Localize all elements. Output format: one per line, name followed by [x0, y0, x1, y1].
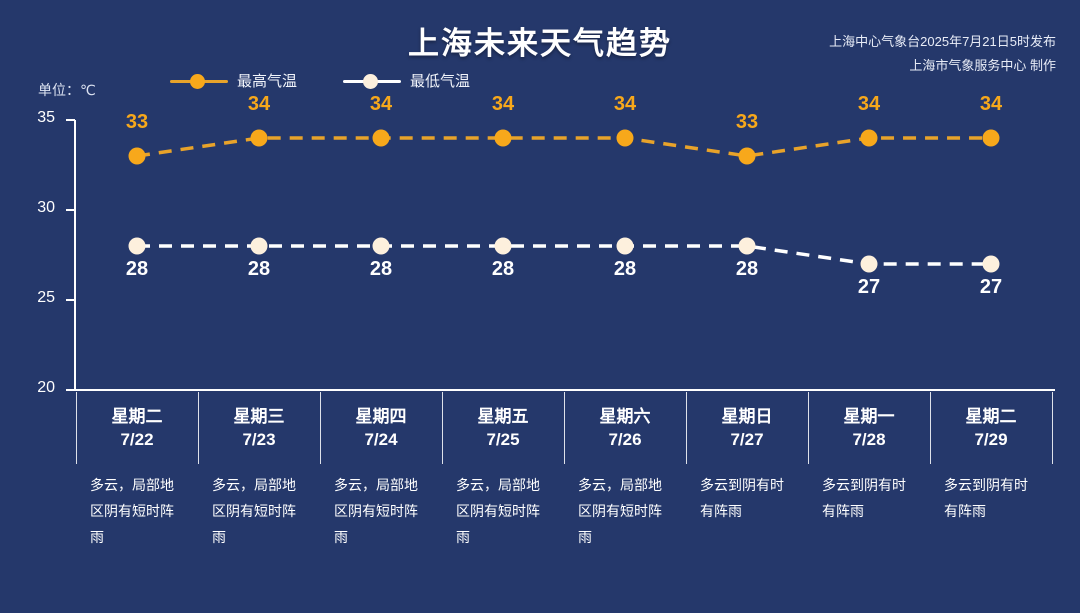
day-date: 7/24: [320, 430, 442, 450]
day-column[interactable]: 星期四7/24多云，局部地区阴有短时阵雨: [320, 388, 442, 588]
day-name: 星期六: [564, 402, 686, 427]
high-temp-marker[interactable]: [983, 130, 1000, 147]
day-date: 7/25: [442, 430, 564, 450]
attribution-block: 上海中心气象台2025年7月21日5时发布 上海市气象服务中心 制作: [726, 30, 1056, 78]
day-name: 星期一: [808, 402, 930, 427]
day-name: 星期日: [686, 402, 808, 427]
day-weather-description: 多云，局部地区阴有短时阵雨: [334, 472, 428, 550]
day-weather-description: 多云，局部地区阴有短时阵雨: [90, 472, 184, 550]
day-date: 7/27: [686, 430, 808, 450]
day-name: 星期二: [76, 402, 198, 427]
low-temp-value: 27: [956, 276, 1026, 299]
low-temp-marker[interactable]: [129, 238, 146, 255]
axis-unit-label: 单位：℃: [38, 80, 96, 100]
legend-item-low: 最低气温: [343, 70, 470, 91]
low-temp-value: 28: [346, 258, 416, 281]
day-weather-description: 多云到阴有时有阵雨: [944, 472, 1038, 524]
column-divider: [1052, 392, 1053, 464]
legend-high-marker-icon: [170, 72, 228, 90]
low-temp-value: 28: [224, 258, 294, 281]
day-column[interactable]: 星期五7/25多云，局部地区阴有短时阵雨: [442, 388, 564, 588]
high-temp-value: 34: [224, 93, 294, 116]
day-column[interactable]: 星期二7/22多云，局部地区阴有短时阵雨: [76, 388, 198, 588]
chart-legend: 最高气温 最低气温: [170, 70, 470, 91]
low-temp-value: 28: [590, 258, 660, 281]
day-name: 星期三: [198, 402, 320, 427]
low-temp-marker[interactable]: [739, 238, 756, 255]
legend-low-marker-icon: [343, 72, 401, 90]
day-column[interactable]: 星期日7/27多云到阴有时有阵雨: [686, 388, 808, 588]
low-temp-marker[interactable]: [617, 238, 634, 255]
low-temp-value: 28: [102, 258, 172, 281]
producing-office: 上海市气象服务中心 制作: [726, 54, 1056, 78]
low-temp-value: 28: [712, 258, 782, 281]
day-date: 7/29: [930, 430, 1052, 450]
day-weather-description: 多云，局部地区阴有短时阵雨: [212, 472, 306, 550]
day-date: 7/22: [76, 430, 198, 450]
low-temp-value: 28: [468, 258, 538, 281]
day-weather-description: 多云，局部地区阴有短时阵雨: [578, 472, 672, 550]
legend-high-label: 最高气温: [237, 70, 297, 91]
high-temp-value: 34: [346, 93, 416, 116]
high-temp-marker[interactable]: [495, 130, 512, 147]
y-axis-tick-label: 35: [19, 109, 55, 127]
high-temp-value: 34: [468, 93, 538, 116]
low-temp-value: 27: [834, 276, 904, 299]
low-temp-marker[interactable]: [861, 256, 878, 273]
day-name: 星期二: [930, 402, 1052, 427]
high-temp-line: [137, 138, 991, 156]
day-weather-description: 多云，局部地区阴有短时阵雨: [456, 472, 550, 550]
legend-item-high: 最高气温: [170, 70, 297, 91]
high-temp-marker[interactable]: [617, 130, 634, 147]
day-weather-description: 多云到阴有时有阵雨: [822, 472, 916, 524]
day-weather-description: 多云到阴有时有阵雨: [700, 472, 794, 524]
low-temp-marker[interactable]: [373, 238, 390, 255]
column-divider-end: [1052, 388, 1053, 588]
high-temp-value: 33: [712, 111, 782, 134]
day-column[interactable]: 星期二7/29多云到阴有时有阵雨: [930, 388, 1052, 588]
high-temp-marker[interactable]: [739, 148, 756, 165]
y-axis-tick-label: 25: [19, 289, 55, 307]
day-column[interactable]: 星期三7/23多云，局部地区阴有短时阵雨: [198, 388, 320, 588]
day-date: 7/28: [808, 430, 930, 450]
low-temp-marker[interactable]: [495, 238, 512, 255]
day-name: 星期五: [442, 402, 564, 427]
day-date: 7/26: [564, 430, 686, 450]
y-axis-tick-label: 30: [19, 199, 55, 217]
high-temp-marker[interactable]: [373, 130, 390, 147]
high-temp-marker[interactable]: [129, 148, 146, 165]
day-date: 7/23: [198, 430, 320, 450]
y-axis-tick-label: 20: [19, 379, 55, 397]
weather-trend-chart: 上海未来天气趋势 上海中心气象台2025年7月21日5时发布 上海市气象服务中心…: [0, 0, 1080, 613]
day-column[interactable]: 星期一7/28多云到阴有时有阵雨: [808, 388, 930, 588]
high-temp-value: 34: [834, 93, 904, 116]
low-temp-marker[interactable]: [983, 256, 1000, 273]
legend-low-label: 最低气温: [410, 70, 470, 91]
day-name: 星期四: [320, 402, 442, 427]
chart-axes: [66, 120, 1055, 390]
low-temp-marker[interactable]: [251, 238, 268, 255]
high-temp-marker[interactable]: [251, 130, 268, 147]
high-temp-value: 34: [956, 93, 1026, 116]
issuing-office: 上海中心气象台2025年7月21日5时发布: [726, 30, 1056, 54]
high-temp-value: 34: [590, 93, 660, 116]
high-temp-marker[interactable]: [861, 130, 878, 147]
high-temp-value: 33: [102, 111, 172, 134]
day-column[interactable]: 星期六7/26多云，局部地区阴有短时阵雨: [564, 388, 686, 588]
